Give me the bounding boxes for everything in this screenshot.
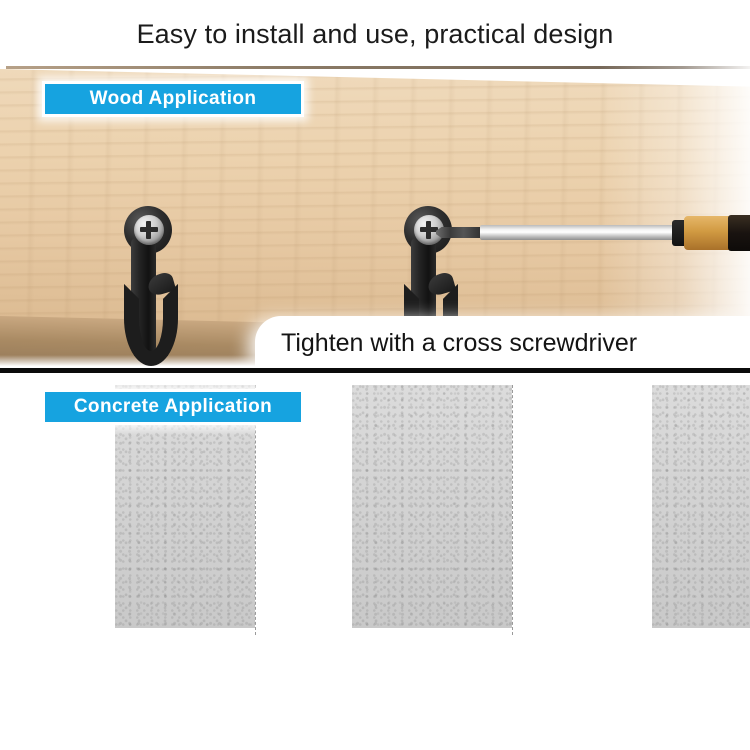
hook-hardware-left	[118, 206, 180, 371]
wood-top-edge	[6, 66, 750, 69]
page-title: Easy to install and use, practical desig…	[137, 19, 614, 50]
tighten-callout-text: Tighten with a cross screwdriver	[255, 329, 637, 358]
badge-wood-application: Wood Application	[42, 81, 304, 117]
badge-concrete-application-label: Concrete Application	[74, 396, 272, 418]
product-instruction-page: Easy to install and use, practical desig…	[0, 0, 750, 750]
screwdriver-handle-cap	[728, 215, 750, 251]
panel-divider-2	[512, 385, 513, 635]
tighten-callout-band: Tighten with a cross screwdriver	[255, 316, 750, 370]
cross-screwdriver-icon	[436, 216, 750, 250]
concrete-wall-block-3	[652, 385, 750, 628]
hook-j-curve	[124, 284, 178, 366]
badge-concrete-application: Concrete Application	[42, 389, 304, 425]
screw-cross-slot-horizontal	[140, 227, 158, 232]
concrete-application-section: Use a 6MM drilling size for concrete Cle…	[0, 373, 750, 750]
screwdriver-tip	[436, 227, 482, 238]
badge-wood-application-label: Wood Application	[90, 88, 257, 110]
screwdriver-handle	[684, 216, 732, 250]
page-title-bar: Easy to install and use, practical desig…	[0, 0, 750, 68]
concrete-wall-block-2	[352, 385, 512, 628]
screwdriver-shaft	[480, 225, 678, 240]
